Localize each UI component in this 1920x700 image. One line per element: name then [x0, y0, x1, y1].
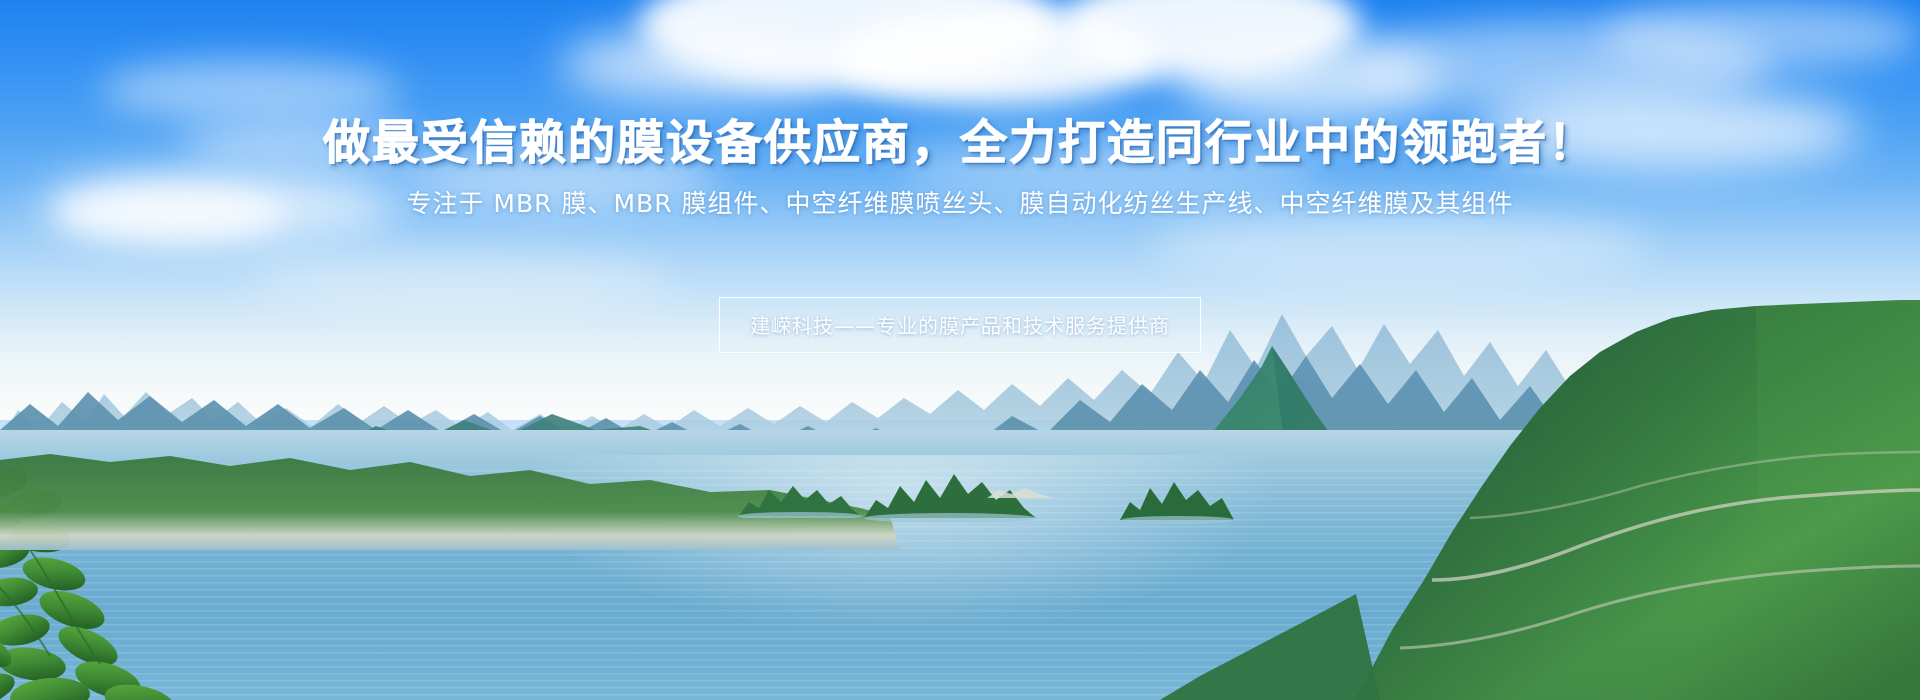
cloud-icon	[1600, 0, 1920, 70]
banner-headline: 做最受信赖的膜设备供应商，全力打造同行业中的领跑者！	[0, 104, 1920, 173]
cloud-icon	[560, 30, 840, 100]
hero-banner: 做最受信赖的膜设备供应商，全力打造同行业中的领跑者！ 专注于 MBR 膜、MBR…	[0, 0, 1920, 700]
banner-subheadline: 专注于 MBR 膜、MBR 膜组件、中空纤维膜喷丝头、膜自动化纺丝生产线、中空纤…	[0, 184, 1920, 220]
